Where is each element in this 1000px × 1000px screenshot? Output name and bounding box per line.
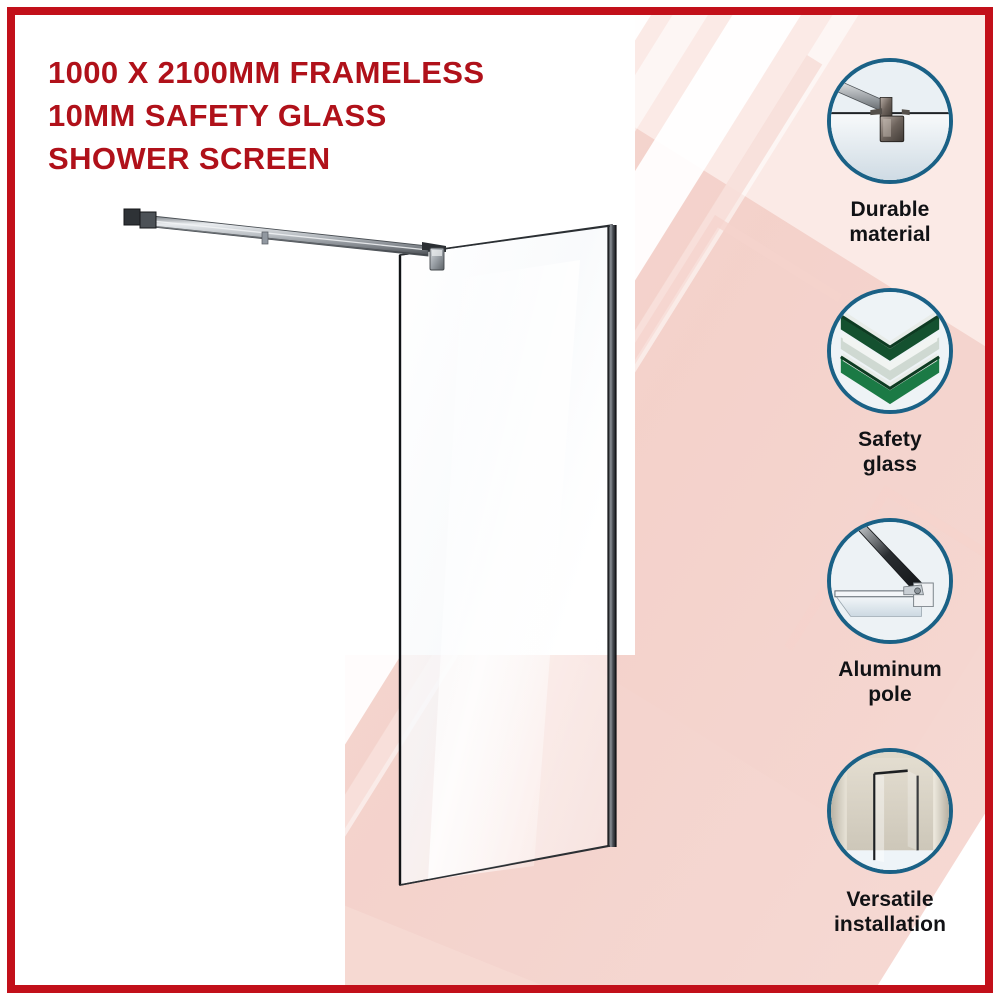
feature-label-line-1: Aluminum xyxy=(838,658,941,681)
feature-label-durable-material: Durable material xyxy=(849,198,930,248)
product-title-line-3: Shower Screen xyxy=(48,138,648,181)
feature-label-line-1: Durable xyxy=(851,198,930,221)
feature-label-line-2: pole xyxy=(868,683,912,706)
product-listing-image: 1000 x 2100mm Frameless 10mm Safety Glas… xyxy=(0,0,1000,1000)
feature-label-line-1: Versatile xyxy=(846,888,933,911)
feature-item-versatile-installation: Versatile installation xyxy=(790,748,990,978)
wall-mount-bracket xyxy=(124,209,156,228)
feature-label-line-2: installation xyxy=(834,913,946,936)
support-bar xyxy=(143,215,428,256)
feature-label-line-2: material xyxy=(849,223,930,246)
support-bar-joint xyxy=(262,232,268,244)
feature-label-aluminum-pole: Aluminum pole xyxy=(838,658,941,708)
feature-item-durable-material: Durable material xyxy=(790,58,990,288)
feature-item-safety-glass: Safety glass xyxy=(790,288,990,518)
feature-label-versatile-installation: Versatile installation xyxy=(834,888,946,938)
bracket-clamp-icon xyxy=(827,58,953,184)
feature-label-line-1: Safety xyxy=(858,428,922,451)
aluminium-pole-icon xyxy=(827,518,953,644)
feature-list: Durable material xyxy=(790,58,990,978)
product-title: 1000 x 2100mm Frameless 10mm Safety Glas… xyxy=(48,52,648,180)
product-title-line-1: 1000 x 2100mm Frameless xyxy=(48,52,648,95)
product-image xyxy=(110,190,670,930)
feature-label-safety-glass: Safety glass xyxy=(858,428,922,478)
laminated-glass-layers-icon xyxy=(827,288,953,414)
feature-item-aluminum-pole: Aluminum pole xyxy=(790,518,990,748)
product-title-line-2: 10mm Safety Glass xyxy=(48,95,648,138)
bathroom-install-icon xyxy=(827,748,953,874)
glass-right-edge xyxy=(608,225,616,847)
feature-label-line-2: glass xyxy=(863,453,917,476)
